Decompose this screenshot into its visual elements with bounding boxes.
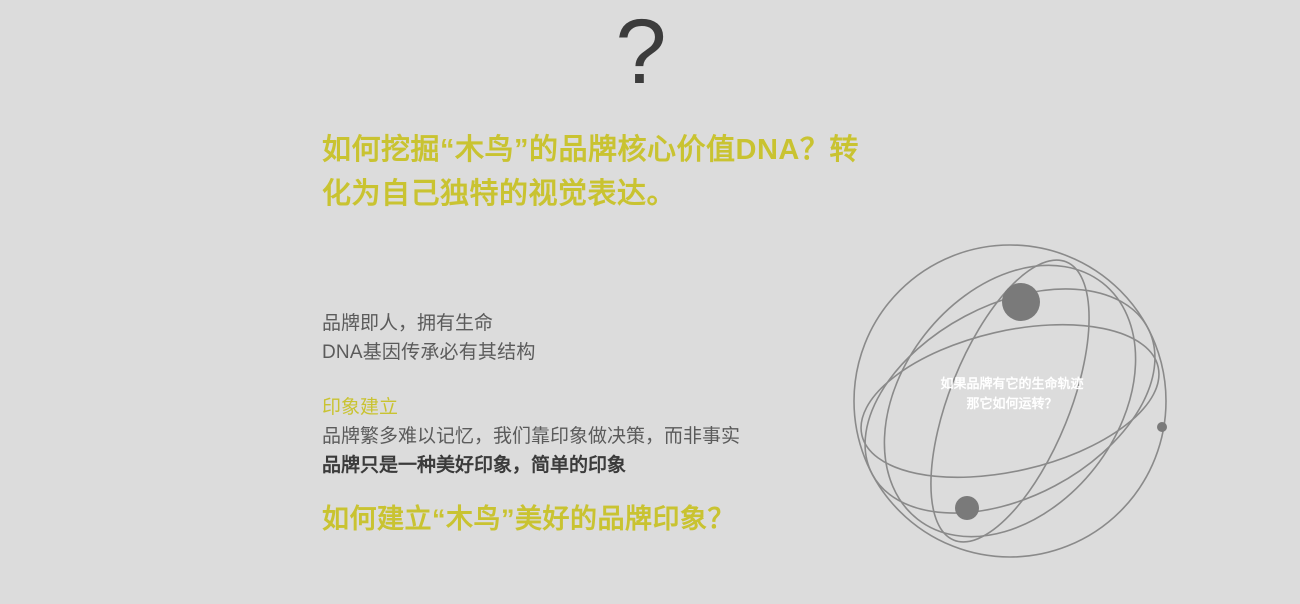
headline-line-1: 如何挖掘“木鸟”的品牌核心价值DNA？转: [322, 128, 1002, 172]
headline: 如何挖掘“木鸟”的品牌核心价值DNA？转 化为自己独特的视觉表达。: [322, 128, 1002, 216]
subsection-label-impression: 印象建立: [322, 393, 882, 422]
body-text-block: 品牌即人，拥有生命 DNA基因传承必有其结构 印象建立 品牌繁多难以记忆，我们靠…: [322, 309, 882, 480]
small-node: [1157, 422, 1167, 432]
slide-canvas: ? 如何挖掘“木鸟”的品牌核心价值DNA？转 化为自己独特的视觉表达。 品牌即人…: [0, 0, 1300, 604]
orbit-ellipse-2: [846, 299, 1174, 504]
body-line-impression-simple: 品牌只是一种美好印象，简单的印象: [322, 451, 882, 480]
cta-question: 如何建立“木鸟”美好的品牌印象？: [322, 500, 735, 538]
question-mark-glyph: ?: [596, 6, 686, 98]
body-line-brand-is-person: 品牌即人，拥有生命: [322, 309, 882, 338]
headline-line-2: 化为自己独特的视觉表达。: [322, 172, 1002, 216]
orbit-sphere-graphic: [838, 228, 1186, 576]
large-node: [1002, 283, 1040, 321]
body-line-impression-decision: 品牌繁多难以记忆，我们靠印象做决策，而非事实: [322, 422, 882, 451]
medium-node: [955, 496, 979, 520]
body-line-dna-structure: DNA基因传承必有其结构: [322, 338, 882, 367]
body-spacer: [322, 367, 882, 393]
orbit-ellipse-3: [838, 228, 1186, 576]
